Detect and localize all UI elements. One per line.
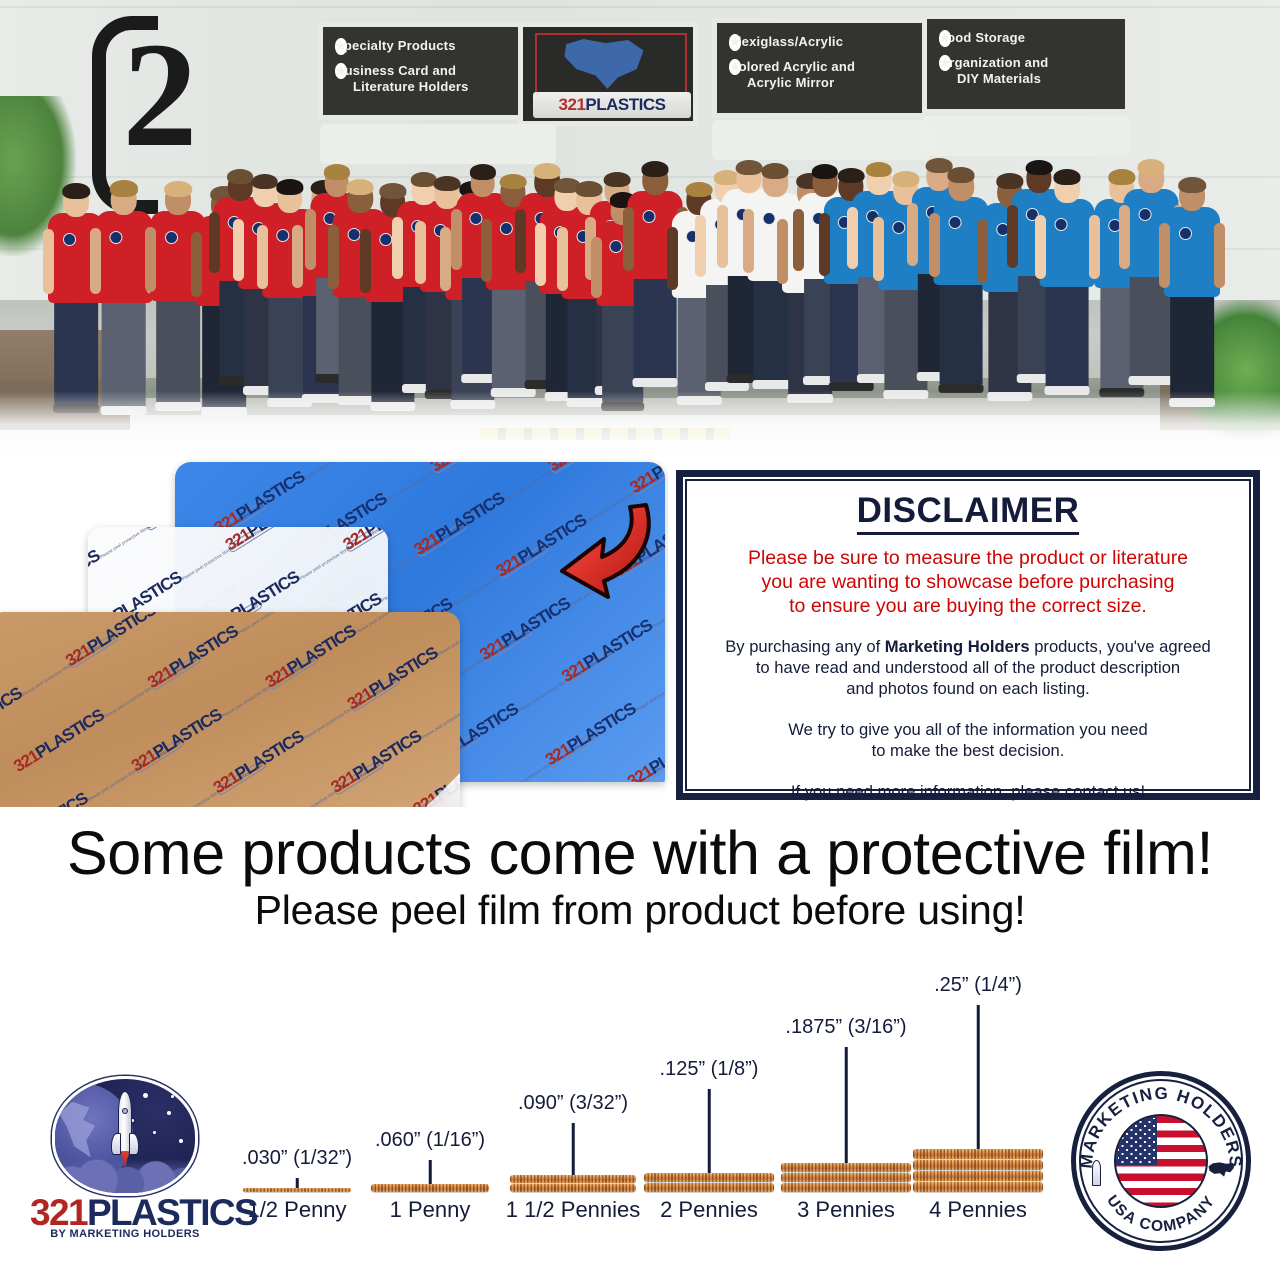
- thickness-label: .1875” (3/16”): [785, 1016, 906, 1039]
- penny-coin: [913, 1171, 1043, 1181]
- sign-line: Colored Acrylic and: [729, 59, 855, 74]
- thickness-label: .030” (1/32”): [242, 1147, 352, 1170]
- star-icon: ★: [729, 59, 741, 76]
- arm-left: [392, 217, 403, 279]
- legs: [940, 278, 983, 384]
- penny-coin: [781, 1173, 911, 1182]
- disclaimer-paragraph-3: We try to give you all of the informatio…: [699, 719, 1237, 761]
- star-icon: [143, 1093, 148, 1098]
- watermark-sub: Please peel protective film: [155, 612, 204, 613]
- penny-count-label: 3 Pennies: [797, 1197, 895, 1223]
- star-icon: ★: [939, 55, 951, 72]
- shirt-logo: [63, 233, 76, 246]
- arm-left: [847, 207, 858, 269]
- arm-left: [328, 225, 339, 289]
- penny-column: .125” (1/8”)2 Pennies: [644, 1173, 774, 1192]
- logo-tagline: BY MARKETING HOLDERS: [30, 1228, 220, 1240]
- arm-left: [1119, 205, 1130, 269]
- disclaimer-line: and photos found on each listing.: [699, 678, 1237, 699]
- arm-left: [793, 209, 804, 271]
- shoes: [705, 382, 749, 391]
- sign-line: Specialty Products: [335, 38, 456, 53]
- shirt-logo: [379, 233, 392, 246]
- peel-direction-arrow-icon: [552, 495, 662, 615]
- shirt-logo: [110, 231, 123, 244]
- disclaimer-text: By purchasing any of: [725, 637, 885, 656]
- legs: [101, 296, 146, 406]
- hair: [948, 167, 975, 183]
- watermark-brand: 321PLASTICS: [545, 462, 642, 475]
- disclaimer-line: We try to give you all of the informatio…: [699, 719, 1237, 740]
- clouds-graphic: [55, 1159, 195, 1193]
- penny-count-label: 1 1/2 Pennies: [506, 1197, 641, 1223]
- penny-column: .090” (3/32”)1 1/2 Pennies: [510, 1175, 636, 1192]
- logo-marketing-holders: MARKETING HOLDERS USA COMPANY: [1068, 1068, 1254, 1254]
- watermark-tag: 321PLASTICSPlease peel protective filmbe…: [0, 677, 39, 755]
- wall-seam: [0, 6, 1280, 8]
- rocket-fin-right: [129, 1133, 139, 1155]
- arm-left: [623, 207, 634, 271]
- arm-left: [535, 223, 546, 286]
- legs: [156, 294, 200, 402]
- arm-left: [292, 225, 303, 288]
- arm-left: [360, 229, 371, 293]
- logo-wordmark: 321PLASTICS: [30, 1194, 220, 1231]
- watermark-brand: 321PLASTICS: [62, 612, 159, 670]
- hair: [62, 183, 90, 199]
- penny-column: .060” (1/16”)1 Penny: [371, 1184, 489, 1192]
- penny-coin: [510, 1184, 636, 1192]
- penny-count-label: 2 Pennies: [660, 1197, 758, 1223]
- star-icon: ★: [335, 63, 347, 80]
- arm-left: [451, 209, 461, 271]
- watermark-tag: 321PLASTICSPlease peel protective filmbe…: [63, 612, 173, 671]
- hair: [164, 181, 192, 197]
- arm-left: [515, 209, 526, 273]
- brand-name: Marketing Holders: [885, 637, 1030, 656]
- sign-line: Food Storage: [939, 30, 1025, 45]
- kraft-film-sheet: 321PLASTICSPlease peel protective filmbe…: [0, 612, 460, 807]
- star-icon: [167, 1111, 171, 1115]
- team-photo: 2 ★Specialty Products ★Business Card and…: [0, 0, 1280, 455]
- disclaimer-red-paragraph: Please be sure to measure the product or…: [699, 546, 1237, 618]
- star-icon: [153, 1131, 156, 1134]
- watermark-sub: Please peel protective film: [21, 664, 70, 698]
- usa-map-graphic: [535, 33, 687, 95]
- penny-column: .1875” (3/16”)3 Pennies: [781, 1163, 911, 1192]
- shirt-logo: [948, 216, 961, 229]
- arm-right: [1214, 223, 1225, 288]
- staff-member: [1040, 101, 1095, 395]
- shoes: [829, 382, 874, 391]
- arm-left: [591, 237, 601, 299]
- hair: [1054, 169, 1081, 185]
- legs: [54, 296, 98, 404]
- arm-left: [929, 213, 940, 277]
- star-icon: [171, 1095, 174, 1098]
- arm-left: [1035, 215, 1046, 279]
- rocket-fin-left: [111, 1133, 121, 1155]
- disclaimer-line: If you need more information, please con…: [699, 781, 1237, 802]
- logo-suffix: PLASTICS: [87, 1192, 257, 1233]
- watermark-brand: 321PLASTICS: [222, 527, 319, 555]
- photo-bottom-fade: [0, 391, 1280, 455]
- penny-coin: [781, 1163, 911, 1172]
- staff-member: [95, 109, 152, 415]
- hair: [109, 180, 137, 196]
- arm-left: [90, 228, 101, 294]
- globe-graphic: [52, 1076, 198, 1196]
- penny-coin: [644, 1183, 774, 1192]
- disclaimer-paragraph-4: If you need more information, please con…: [699, 781, 1237, 802]
- arm-left: [907, 203, 918, 266]
- shirt-logo: [1179, 227, 1192, 240]
- star-icon: ★: [939, 30, 951, 47]
- staff-member: [1164, 107, 1220, 407]
- penny-count-label: 1/2 Penny: [247, 1197, 346, 1223]
- legs: [1170, 290, 1214, 398]
- hair: [642, 161, 669, 177]
- shirt-logo: [642, 210, 655, 223]
- page-subtitle: Please peel film from product before usi…: [0, 886, 1280, 934]
- film-watermark-pattern: 321PLASTICSPlease peel protective filmbe…: [0, 612, 460, 807]
- penny-stack: [243, 1188, 351, 1192]
- shirt-logo: [610, 240, 623, 253]
- thickness-label: .060” (1/16”): [375, 1129, 485, 1152]
- arm-left: [743, 209, 754, 273]
- shirt-logo: [762, 212, 775, 225]
- hair: [1178, 177, 1206, 193]
- badge-top-text: MARKETING HOLDERS: [1077, 1084, 1246, 1169]
- penny-stack: [913, 1149, 1043, 1192]
- thickness-label: .25” (1/4”): [934, 974, 1022, 997]
- arm-left: [819, 213, 830, 276]
- sign-line: Literature Holders: [353, 79, 469, 94]
- legs: [1046, 280, 1089, 386]
- logo-321plastics: 321PLASTICS BY MARKETING HOLDERS: [30, 1076, 220, 1241]
- arm-left: [415, 221, 426, 284]
- disclaimer-red-line: to ensure you are buying the correct siz…: [699, 594, 1237, 618]
- sign-line: Plexiglass/Acrylic: [729, 34, 843, 49]
- disclaimer-line: to have read and understood all of the p…: [699, 657, 1237, 678]
- leader-line: [845, 1047, 848, 1165]
- penny-coin: [644, 1173, 774, 1182]
- disclaimer-red-line: Please be sure to measure the product or…: [699, 546, 1237, 570]
- shirt-logo: [1054, 218, 1067, 231]
- sign-line: Organization and: [939, 55, 1048, 70]
- arm-left: [191, 232, 202, 297]
- sign-line: Business Card and: [335, 63, 456, 78]
- disclaimer-text: products, you've agreed: [1030, 637, 1211, 656]
- rocket-window: [122, 1108, 128, 1114]
- disclaimer-line: By purchasing any of Marketing Holders p…: [699, 636, 1237, 657]
- torso: [95, 211, 152, 303]
- watermark-tag: 321PLASTICSPlease peel protective filmbe…: [428, 462, 538, 477]
- watermark-sub: Please peel protective film: [355, 612, 404, 635]
- arm-left: [1089, 215, 1100, 279]
- arm-left: [873, 217, 884, 281]
- arm-left: [977, 219, 988, 283]
- arm-left: [440, 227, 451, 291]
- badge-text: MARKETING HOLDERS USA COMPANY: [1068, 1068, 1254, 1254]
- leader-line: [977, 1005, 980, 1151]
- disclaimer-title: DISCLAIMER: [857, 491, 1080, 535]
- arm-left: [1159, 223, 1170, 288]
- leader-line: [429, 1160, 432, 1186]
- disclaimer-red-line: you are wanting to showcase before purch…: [699, 570, 1237, 594]
- arm-left: [777, 219, 788, 284]
- penny-stack: [371, 1184, 489, 1192]
- penny-coin: [913, 1149, 1043, 1159]
- penny-coin: [243, 1188, 351, 1192]
- watermark-tag: 321PLASTICSPlease peel protective filmbe…: [223, 527, 333, 555]
- star-icon: ★: [729, 34, 741, 51]
- leader-line: [572, 1123, 575, 1177]
- thickness-label: .125” (1/8”): [660, 1058, 759, 1081]
- penny-count-label: 4 Pennies: [929, 1197, 1027, 1223]
- arm-left: [43, 229, 54, 294]
- arm-left: [257, 225, 268, 289]
- badge-bottom-text: USA COMPANY: [1103, 1192, 1219, 1235]
- arm-left: [233, 219, 244, 281]
- penny-column: .25” (1/4”)4 Pennies: [913, 1149, 1043, 1192]
- arm-left: [305, 209, 315, 271]
- arm-left: [667, 227, 678, 290]
- arm-left: [145, 227, 156, 292]
- penny-stack: [644, 1173, 774, 1192]
- watermark-sub: Please peel protective film: [99, 527, 148, 560]
- watermark-sub: Please peel protective film: [304, 462, 353, 481]
- torso: [1164, 207, 1220, 297]
- leader-line: [708, 1089, 711, 1175]
- arm-left: [1007, 205, 1018, 268]
- disclaimer-box: DISCLAIMER Please be sure to measure the…: [676, 470, 1260, 800]
- arm-left: [695, 215, 706, 277]
- watermark-brand: 321PLASTICS: [140, 527, 237, 533]
- penny-coin: [781, 1183, 911, 1192]
- shirt-logo: [1138, 208, 1151, 221]
- shirt-logo: [892, 221, 905, 234]
- arm-left: [557, 227, 568, 291]
- sign-line: Acrylic Mirror: [747, 75, 834, 90]
- disclaimer-line: to make the best decision.: [699, 740, 1237, 761]
- arm-left: [717, 205, 728, 268]
- torso: [1040, 199, 1095, 287]
- shirt-logo: [276, 229, 289, 242]
- shirt-logo: [500, 222, 513, 235]
- page-title: Some products come with a protective fil…: [0, 818, 1280, 888]
- penny-count-label: 1 Penny: [390, 1197, 471, 1223]
- watermark-brand: 321PLASTICS: [427, 462, 524, 476]
- penny-column: .030” (1/32”)1/2 Penny: [243, 1188, 351, 1192]
- penny-coin: [913, 1182, 1043, 1192]
- hair: [1138, 159, 1165, 175]
- watermark-sub: Please peel protective film: [237, 612, 286, 635]
- penny-coin: [371, 1184, 489, 1192]
- arm-left: [481, 219, 492, 282]
- penny-coin: [510, 1175, 636, 1183]
- sign-line: DIY Materials: [957, 71, 1041, 86]
- thickness-label: .090” (3/32”): [518, 1092, 628, 1115]
- penny-coin: [913, 1160, 1043, 1170]
- star-icon: ★: [335, 38, 347, 55]
- disclaimer-paragraph-2: By purchasing any of Marketing Holders p…: [699, 636, 1237, 699]
- shirt-logo: [347, 228, 360, 241]
- arm-left: [209, 212, 219, 273]
- logo-prefix: 321: [30, 1192, 87, 1233]
- penny-stack: [510, 1175, 636, 1192]
- shirt-logo: [165, 231, 178, 244]
- penny-stack: [781, 1163, 911, 1192]
- star-icon: [179, 1139, 183, 1143]
